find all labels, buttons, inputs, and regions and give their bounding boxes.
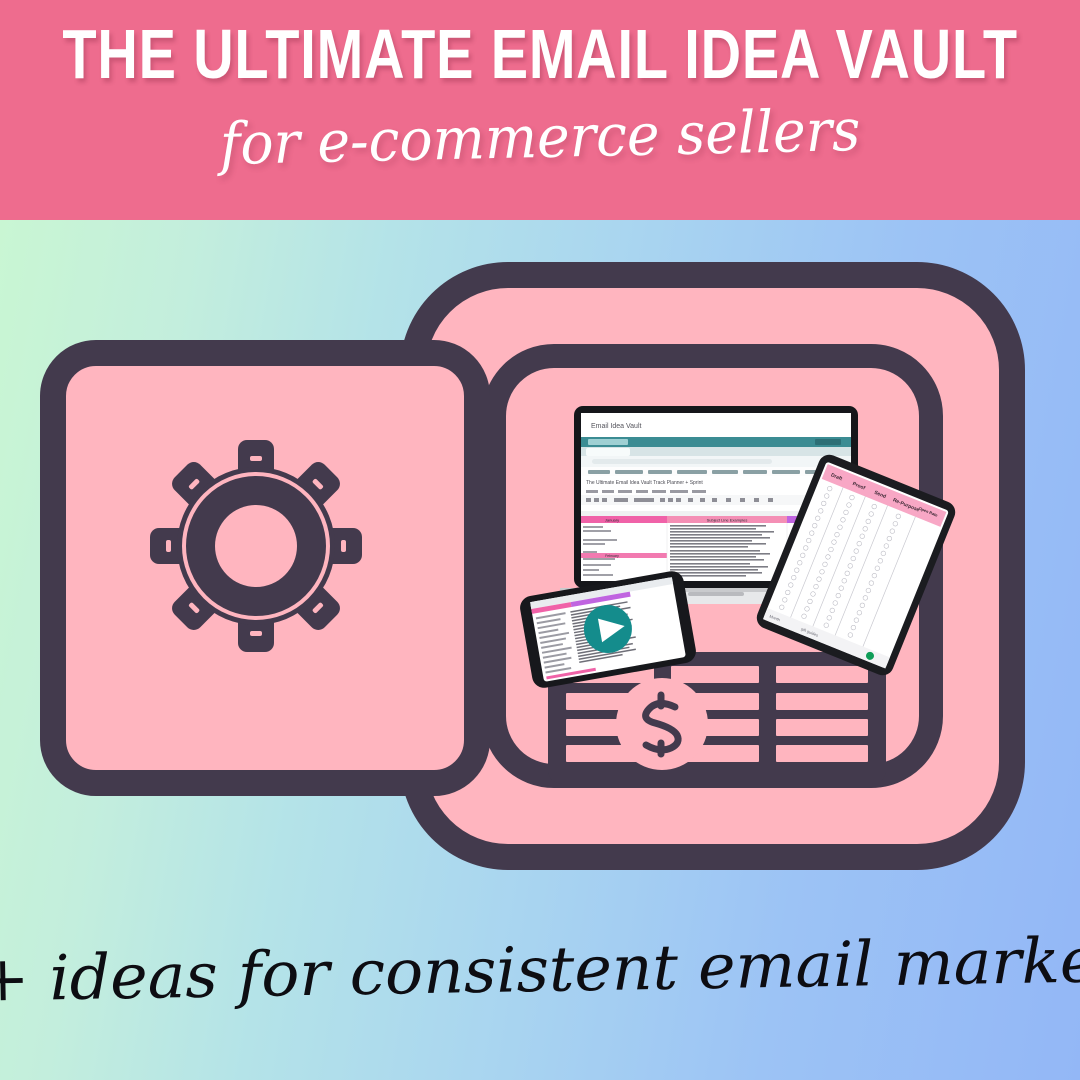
laptop-doc-title: The Ultimate Email Idea Vault Track Plan… xyxy=(586,480,703,486)
tagline-text: 100+ ideas for consistent email marketin… xyxy=(0,924,1080,1015)
laptop-tab-title: Email Idea Vault xyxy=(591,423,642,430)
page-title: THE ULTIMATE EMAIL IDEA VAULT xyxy=(62,16,1017,92)
footer-tagline: 100+ ideas for consistent email marketin… xyxy=(0,905,1080,1035)
header-banner: THE ULTIMATE EMAIL IDEA VAULT for e-comm… xyxy=(0,0,1080,220)
laptop-sheet-header-1: Subject Line Examples xyxy=(707,518,748,523)
laptop-sheet-header-0: January xyxy=(605,518,619,523)
page-subtitle: for e-commerce sellers xyxy=(219,99,861,175)
laptop-month-february: February xyxy=(605,554,619,558)
gear-dial-icon xyxy=(150,440,362,652)
poster-canvas: THE ULTIMATE EMAIL IDEA VAULT for e-comm… xyxy=(0,0,1080,1080)
